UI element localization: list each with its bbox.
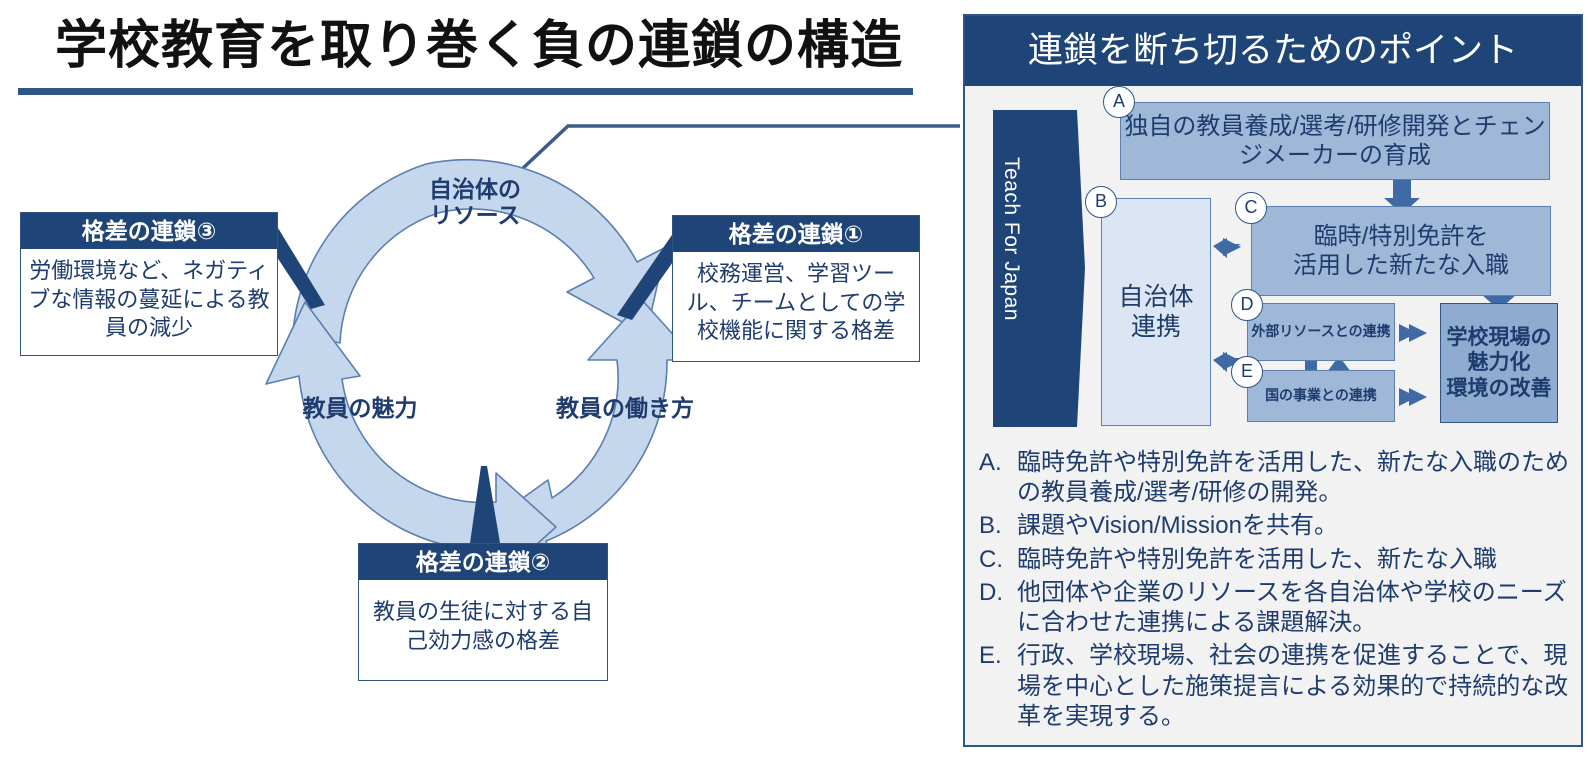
bullet-key-b: B.: [975, 511, 1017, 541]
diagram-box-c-text: 臨時/特別免許を 活用した新たな入職: [1293, 222, 1509, 281]
solution-diagram: Teach For Japan: [965, 88, 1581, 440]
diagram-box-goal-text: 学校現場の 魅力化 環境の改善: [1447, 325, 1552, 402]
callout-box-1-header: 格差の連鎖①: [673, 216, 919, 252]
diagram-box-a-text: 独自の教員養成/選考/研修開発とチェンジメーカーの育成: [1121, 112, 1549, 171]
diagram-box-c: 臨時/特別免許を 活用した新たな入職: [1251, 206, 1551, 296]
diagram-box-b-text: 自治体 連携: [1118, 282, 1193, 343]
bullet-key-a: A.: [975, 448, 1017, 508]
solution-panel: 連鎖を断ち切るためのポイント Teach For Japan: [963, 14, 1583, 747]
diagram-box-d: 外部リソースとの連携: [1247, 303, 1395, 361]
diagram-box-e: 国の事業との連携: [1247, 370, 1395, 422]
bullet-key-e: E.: [975, 641, 1017, 732]
diagram-marker-c: C: [1235, 192, 1267, 224]
solution-panel-header: 連鎖を断ち切るためのポイント: [965, 16, 1581, 86]
callout-box-3-header: 格差の連鎖③: [21, 213, 277, 249]
callout-box-2-body: 教員の生徒に対する自己効力感の格差: [359, 580, 607, 661]
bullet-key-d: D.: [975, 578, 1017, 638]
diagram-marker-d: D: [1231, 289, 1263, 321]
list-item: C. 臨時免許や特別免許を活用した、新たな入職: [975, 545, 1571, 575]
list-item: B. 課題やVision/Missionを共有。: [975, 511, 1571, 541]
diagram-marker-e: E: [1231, 356, 1263, 388]
bullet-text-a: 臨時免許や特別免許を活用した、新たな入職のための教員養成/選考/研修の開発。: [1017, 448, 1571, 508]
bullet-text-d: 他団体や企業のリソースを各自治体や学校のニーズに合わせた連携による課題解決。: [1017, 578, 1571, 638]
solution-bullet-list: A. 臨時免許や特別免許を活用した、新たな入職のための教員養成/選考/研修の開発…: [975, 448, 1571, 735]
diagram-marker-a: A: [1103, 86, 1135, 118]
bullet-text-e: 行政、学校現場、社会の連携を促進することで、現場を中心とした施策提言による効果的…: [1017, 641, 1571, 732]
diagram-box-e-text: 国の事業との連携: [1265, 387, 1377, 404]
diagram-box-d-text: 外部リソースとの連携: [1251, 323, 1390, 340]
left-diagram-pane: 学校教育を取り巻く負の連鎖の構造 自治体の リソース 教員の魅力 教員の働き方 …: [0, 0, 960, 760]
bullet-text-c: 臨時免許や特別免許を活用した、新たな入職: [1017, 545, 1571, 575]
callout-box-1-body: 校務運営、学習ツール、チームとしての学校機能に関する格差: [673, 252, 919, 352]
bullet-key-c: C.: [975, 545, 1017, 575]
diagram-box-b: 自治体 連携: [1101, 198, 1211, 426]
diagram-marker-b: B: [1085, 186, 1117, 218]
callout-box-2: 格差の連鎖② 教員の生徒に対する自己効力感の格差: [358, 543, 608, 681]
list-item: A. 臨時免許や特別免許を活用した、新たな入職のための教員養成/選考/研修の開発…: [975, 448, 1571, 508]
callout-box-2-header: 格差の連鎖②: [359, 544, 607, 580]
callout-box-3-body: 労働環境など、ネガティブな情報の蔓延による教員の減少: [21, 249, 277, 349]
list-item: E. 行政、学校現場、社会の連携を促進することで、現場を中心とした施策提言による…: [975, 641, 1571, 732]
diagram-box-goal: 学校現場の 魅力化 環境の改善: [1440, 303, 1558, 423]
callout-box-3: 格差の連鎖③ 労働環境など、ネガティブな情報の蔓延による教員の減少: [20, 212, 278, 356]
callout-box-1: 格差の連鎖① 校務運営、学習ツール、チームとしての学校機能に関する格差: [672, 215, 920, 362]
diagram-box-a: 独自の教員養成/選考/研修開発とチェンジメーカーの育成: [1120, 102, 1550, 180]
connector-box2-wedge: [470, 466, 500, 543]
bullet-text-b: 課題やVision/Missionを共有。: [1017, 511, 1571, 541]
list-item: D. 他団体や企業のリソースを各自治体や学校のニーズに合わせた連携による課題解決…: [975, 578, 1571, 638]
